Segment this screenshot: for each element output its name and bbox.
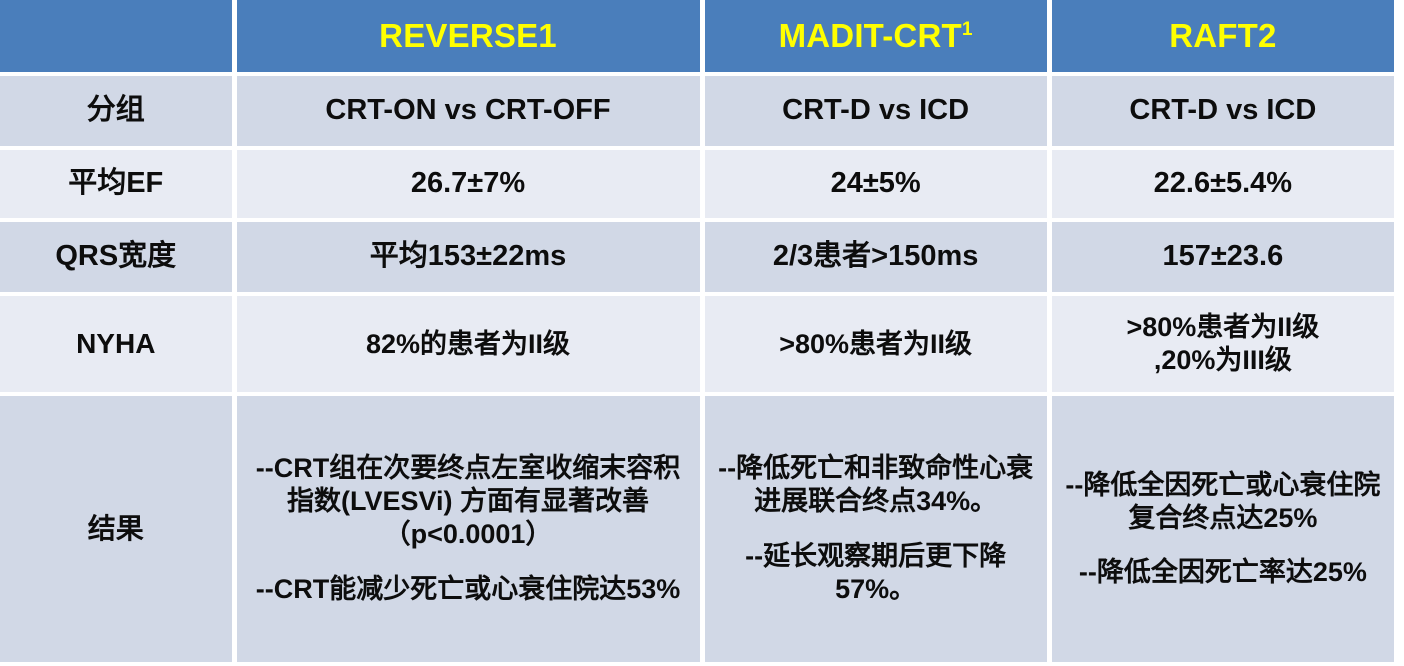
cell-results-madit-item1: --降低死亡和非致命性心衰进展联合终点34%。 (713, 452, 1039, 518)
row-label-results: 结果 (0, 396, 232, 662)
header-label-madit: MADIT-CRT (779, 17, 962, 54)
cell-grouping-reverse: CRT-ON vs CRT-OFF (237, 76, 700, 146)
cell-results-reverse-item2: --CRT能减少死亡或心衰住院达53% (245, 573, 692, 606)
header-cell-raft: RAFT2 (1052, 0, 1394, 72)
cell-mean-ef-madit: 24±5% (705, 150, 1047, 218)
table-row-grouping: 分组 CRT-ON vs CRT-OFF CRT-D vs ICD CRT-D … (0, 76, 1394, 146)
cell-results-raft-item1: --降低全因死亡或心衰住院复合终点达25% (1060, 469, 1386, 535)
cell-mean-ef-raft: 22.6±5.4% (1052, 150, 1394, 218)
cell-qrs-madit: 2/3患者>150ms (705, 222, 1047, 292)
cell-nyha-madit: >80%患者为II级 (705, 296, 1047, 392)
table-row-results: 结果 --CRT组在次要终点左室收缩末容积指数(LVESVi) 方面有显著改善（… (0, 396, 1394, 662)
row-label-qrs-width: QRS宽度 (0, 222, 232, 292)
table-header-row: REVERSE1 MADIT-CRT1 RAFT2 (0, 0, 1394, 72)
header-cell-blank (0, 0, 232, 72)
comparison-table-container: REVERSE1 MADIT-CRT1 RAFT2 分组 CRT-ON vs C… (0, 0, 1404, 640)
cell-results-madit-item2: --延长观察期后更下降57%。 (713, 540, 1039, 606)
table-row-nyha: NYHA 82%的患者为II级 >80%患者为II级 >80%患者为II级 ,2… (0, 296, 1394, 392)
cell-grouping-raft: CRT-D vs ICD (1052, 76, 1394, 146)
header-label-raft: RAFT2 (1169, 17, 1276, 54)
table-row-mean-ef: 平均EF 26.7±7% 24±5% 22.6±5.4% (0, 150, 1394, 218)
header-footnote-madit: 1 (962, 19, 973, 40)
row-label-grouping: 分组 (0, 76, 232, 146)
cell-nyha-raft: >80%患者为II级 ,20%为III级 (1052, 296, 1394, 392)
header-cell-madit: MADIT-CRT1 (705, 0, 1047, 72)
table-row-qrs-width: QRS宽度 平均153±22ms 2/3患者>150ms 157±23.6 (0, 222, 1394, 292)
row-label-mean-ef: 平均EF (0, 150, 232, 218)
cell-results-reverse: --CRT组在次要终点左室收缩末容积指数(LVESVi) 方面有显著改善（p<0… (237, 396, 700, 662)
cell-mean-ef-reverse: 26.7±7% (237, 150, 700, 218)
cell-results-raft-item2: --降低全因死亡率达25% (1060, 556, 1386, 589)
cell-qrs-reverse: 平均153±22ms (237, 222, 700, 292)
row-label-nyha: NYHA (0, 296, 232, 392)
cell-results-madit: --降低死亡和非致命性心衰进展联合终点34%。 --延长观察期后更下降57%。 (705, 396, 1047, 662)
cell-results-reverse-item1: --CRT组在次要终点左室收缩末容积指数(LVESVi) 方面有显著改善（p<0… (245, 452, 692, 551)
cell-nyha-reverse: 82%的患者为II级 (237, 296, 700, 392)
header-label-reverse: REVERSE1 (379, 17, 557, 54)
cell-qrs-raft: 157±23.6 (1052, 222, 1394, 292)
cell-nyha-raft-line2: ,20%为III级 (1060, 344, 1386, 377)
crt-trials-comparison-table: REVERSE1 MADIT-CRT1 RAFT2 分组 CRT-ON vs C… (0, 0, 1399, 666)
cell-grouping-madit: CRT-D vs ICD (705, 76, 1047, 146)
header-cell-reverse: REVERSE1 (237, 0, 700, 72)
cell-nyha-raft-line1: >80%患者为II级 (1060, 311, 1386, 344)
cell-results-raft: --降低全因死亡或心衰住院复合终点达25% --降低全因死亡率达25% (1052, 396, 1394, 662)
